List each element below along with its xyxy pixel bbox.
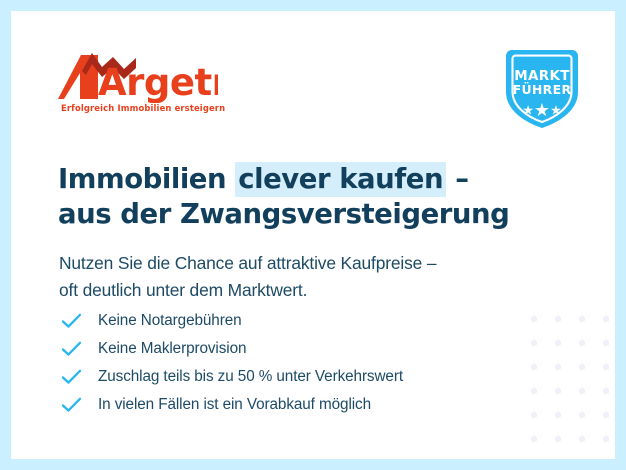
list-item-label: Keine Maklerprovision xyxy=(98,340,246,358)
list-item: Zuschlag teils bis zu 50 % unter Verkehr… xyxy=(61,363,541,391)
list-item: Keine Maklerprovision xyxy=(61,335,541,363)
headline-highlight: clever kaufen xyxy=(235,162,446,197)
subheadline: Nutzen Sie die Chance auf attraktive Kau… xyxy=(59,250,539,303)
shield-badge-icon xyxy=(500,48,584,130)
subheadline-line-1: Nutzen Sie die Chance auf attraktive Kau… xyxy=(59,250,539,276)
page-frame: Argetra Erfolgreich Immobilien ersteiger… xyxy=(0,0,626,470)
svg-text:Argetra: Argetra xyxy=(98,61,218,103)
benefit-list: Keine Notargebühren Keine Maklerprovisio… xyxy=(61,307,541,419)
subheadline-line-2: oft deutlich unter dem Marktwert. xyxy=(59,277,539,303)
list-item-label: Zuschlag teils bis zu 50 % unter Verkehr… xyxy=(98,368,403,386)
list-item: In vielen Fällen ist ein Vorabkauf mögli… xyxy=(61,391,541,419)
list-item-label: In vielen Fällen ist ein Vorabkauf mögli… xyxy=(98,396,371,414)
headline: Immobilien clever kaufen – aus der Zwang… xyxy=(58,162,528,231)
headline-line-2: aus der Zwangsversteigerung xyxy=(58,197,528,232)
check-icon xyxy=(61,313,82,329)
promo-card: Argetra Erfolgreich Immobilien ersteiger… xyxy=(11,11,615,459)
logo-tagline: Erfolgreich Immobilien ersteigern xyxy=(61,103,225,113)
list-item: Keine Notargebühren xyxy=(61,307,541,335)
headline-line-1: Immobilien clever kaufen – xyxy=(58,162,528,197)
argetra-logo[interactable]: Argetra Erfolgreich Immobilien ersteiger… xyxy=(58,51,218,117)
list-item-label: Keine Notargebühren xyxy=(98,312,242,330)
headline-text-after: – xyxy=(446,163,468,195)
markt-fuehrer-badge: MARKT FÜHRER ★★★ xyxy=(500,48,584,130)
check-icon xyxy=(61,341,82,357)
argetra-a-roof-icon: Argetra xyxy=(58,51,218,103)
headline-text-before: Immobilien xyxy=(58,163,235,195)
check-icon xyxy=(61,369,82,385)
check-icon xyxy=(61,397,82,413)
